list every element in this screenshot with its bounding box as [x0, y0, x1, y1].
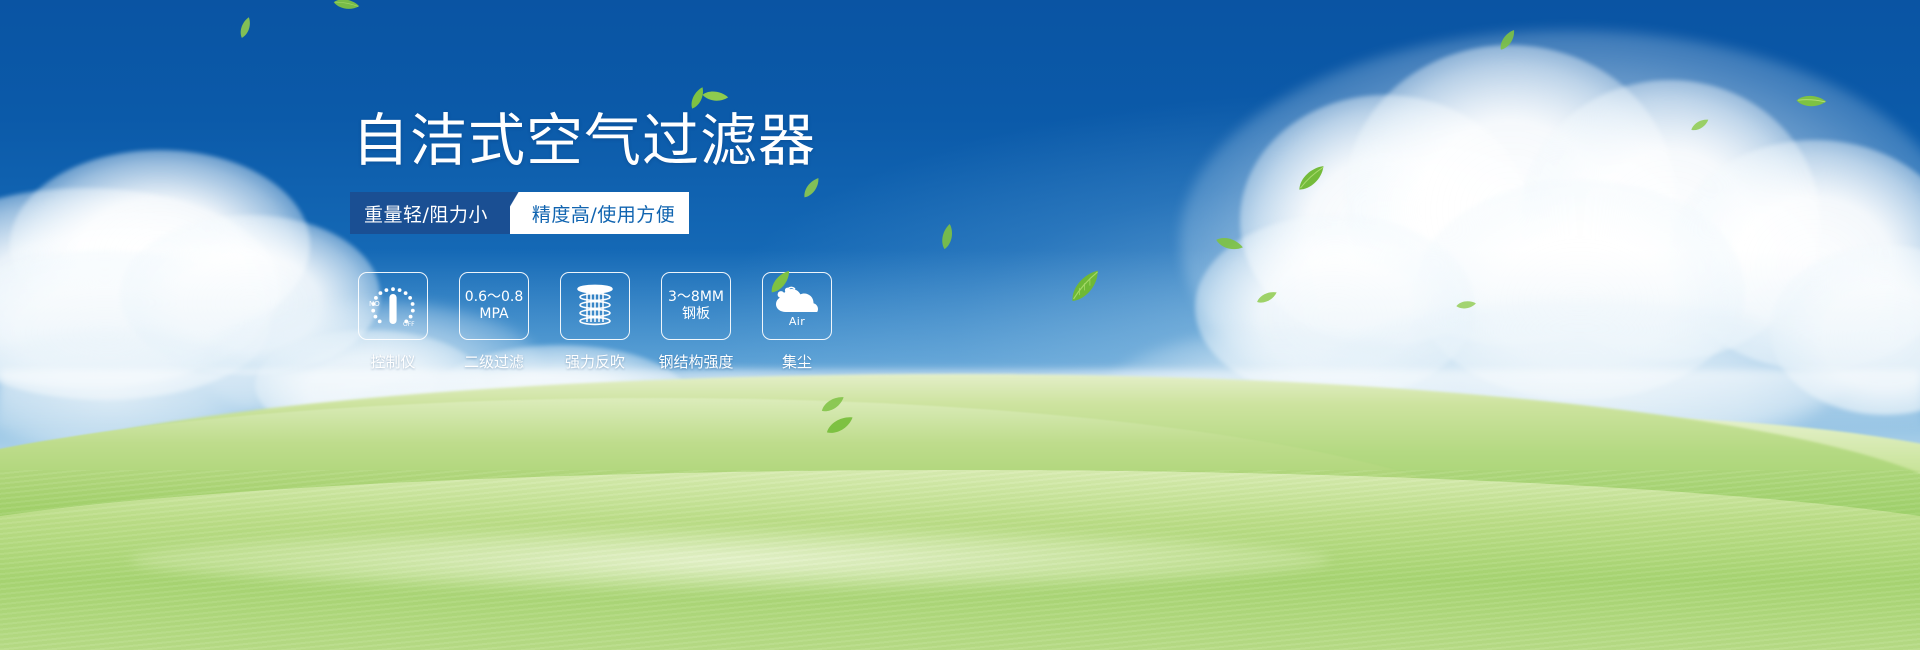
feature-box: 0.6～0.8 MPA	[459, 272, 529, 340]
feature-item-steel[interactable]: 3～8MM 钢板 钢结构强度	[661, 272, 731, 372]
feature-label: 集尘	[782, 351, 812, 372]
feature-item-pressure[interactable]: 0.6～0.8 MPA 二级过滤	[459, 272, 529, 372]
feature-box-line2: MPA	[465, 306, 524, 324]
gauge-dial-icon: NO OFF	[365, 280, 421, 332]
feature-label: 强力反吹	[565, 351, 625, 372]
feature-list: NO OFF 控制仪 0.6～0.8 MPA 二级过滤	[358, 272, 832, 372]
feature-box: NO OFF	[358, 272, 428, 340]
cloud-air-icon	[772, 284, 822, 314]
feature-item-dust[interactable]: Air 集尘	[762, 272, 832, 372]
svg-text:OFF: OFF	[403, 321, 415, 328]
feature-box: 3～8MM 钢板	[661, 272, 731, 340]
feature-box-text: 0.6～0.8 MPA	[465, 289, 524, 324]
feature-box-line2: 钢板	[668, 306, 724, 324]
feature-label: 二级过滤	[464, 351, 524, 372]
feature-badge: 重量轻/阻力小 精度高/使用方便	[350, 192, 689, 234]
badge-left-text: 重量轻/阻力小	[350, 192, 510, 234]
feature-item-controller[interactable]: NO OFF 控制仪	[358, 272, 428, 372]
feature-label: 钢结构强度	[659, 351, 734, 372]
product-banner: 自洁式空气过滤器 重量轻/阻力小 精度高/使用方便	[0, 0, 1920, 650]
filter-cartridge-icon	[569, 281, 621, 331]
badge-right-text: 精度高/使用方便	[512, 192, 689, 234]
feature-box-line1: 3～8MM	[668, 289, 724, 305]
feature-box-text: 3～8MM 钢板	[668, 289, 724, 324]
feature-box-line1: 0.6～0.8	[465, 289, 524, 305]
feature-label: 控制仪	[370, 351, 415, 372]
feature-box: Air	[762, 272, 832, 340]
feature-box	[560, 272, 630, 340]
svg-text:NO: NO	[369, 300, 380, 308]
air-word: Air	[789, 315, 805, 328]
page-title: 自洁式空气过滤器	[352, 113, 816, 170]
feature-item-backblow[interactable]: 强力反吹	[560, 272, 630, 372]
